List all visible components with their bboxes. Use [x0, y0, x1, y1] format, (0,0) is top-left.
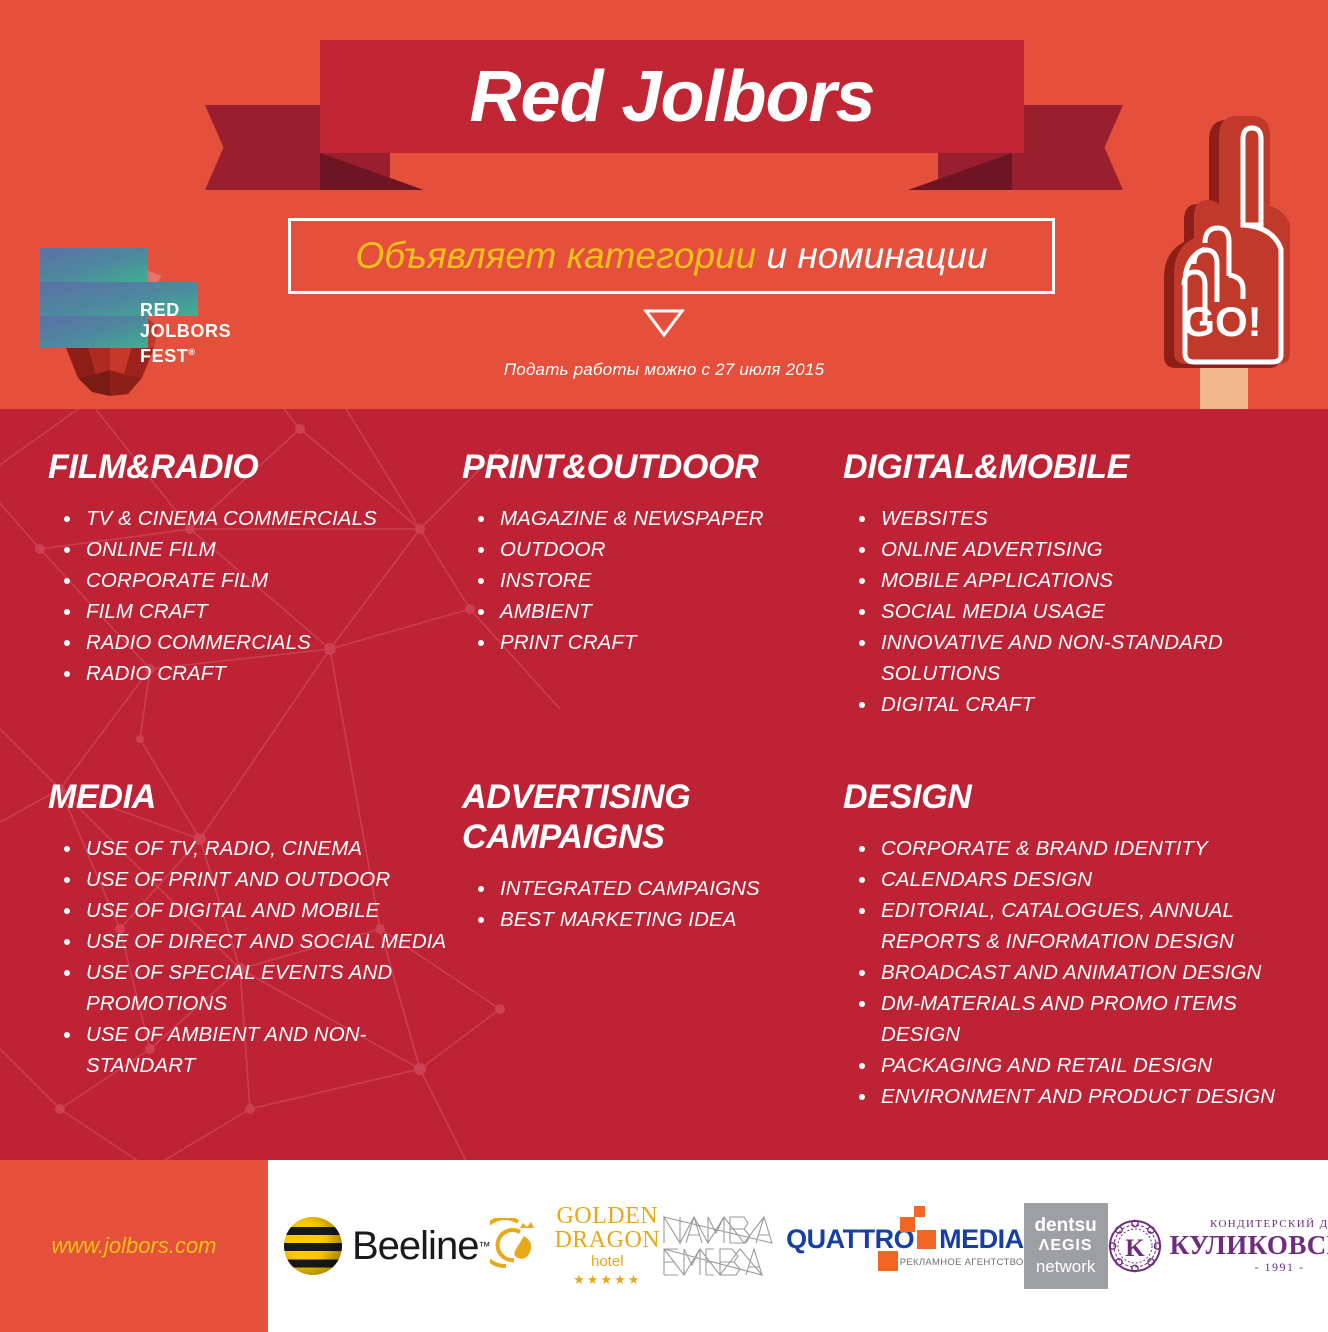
- list-item: MAGAZINE & NEWSPAPER: [462, 503, 842, 534]
- list-item: CORPORATE & BRAND IDENTITY: [843, 833, 1313, 864]
- category-title: MEDIA: [48, 777, 468, 817]
- golden-dragon-crown-icon: [490, 1218, 546, 1274]
- category-digital-mobile: DIGITAL&MOBILE WEBSITES ONLINE ADVERTISI…: [843, 447, 1263, 720]
- logo-registered-mark: ®: [188, 347, 195, 357]
- poster-header: Red Jolbors: [0, 0, 1328, 409]
- list-item: INSTORE: [462, 565, 842, 596]
- sponsor-word-2: MEDIA: [939, 1224, 1024, 1255]
- category-film-radio: FILM&RADIO TV & CINEMA COMMERCIALS ONLIN…: [48, 447, 448, 689]
- list-item: OUTDOOR: [462, 534, 842, 565]
- category-title: PRINT&OUTDOOR: [462, 447, 842, 487]
- quattro-square-mid-icon: [900, 1217, 915, 1232]
- sponsor-dentsu-aegis[interactable]: dentsu ΛEGIS network: [1024, 1203, 1108, 1289]
- list-item: PRINT CRAFT: [462, 627, 842, 658]
- sponsor-line-2: КУЛИКОВСКИЙ: [1170, 1230, 1328, 1260]
- list-item: USE OF TV, RADIO, CINEMA: [48, 833, 468, 864]
- list-item: RADIO COMMERCIALS: [48, 627, 448, 658]
- sponsor-line-3: network: [1036, 1256, 1096, 1277]
- namba-media-wireframe-icon: [660, 1213, 786, 1279]
- list-item: USE OF DIGITAL AND MOBILE: [48, 895, 468, 926]
- category-list: INTEGRATED CAMPAIGNS BEST MARKETING IDEA: [462, 873, 832, 935]
- sponsor-logos: Beeline ™ GOLDEN DRAGON hotel ★★★★★: [268, 1160, 1328, 1332]
- category-title: DIGITAL&MOBILE: [843, 447, 1263, 487]
- sponsor-line-3: - 1991 -: [1170, 1260, 1328, 1275]
- list-item: FILM CRAFT: [48, 596, 448, 627]
- list-item: INTEGRATED CAMPAIGNS: [462, 873, 832, 904]
- list-item: ENVIRONMENT AND PRODUCT DESIGN: [843, 1081, 1313, 1112]
- poster-root: Red Jolbors: [0, 0, 1328, 1332]
- sponsor-line-3: hotel: [554, 1252, 660, 1272]
- sponsor-kulikovsky[interactable]: K КОНДИТЕРСКИЙ ДОМ КУЛИКОВСКИЙ - 1991 -: [1108, 1218, 1328, 1275]
- category-print-outdoor: PRINT&OUTDOOR MAGAZINE & NEWSPAPER OUTDO…: [462, 447, 842, 658]
- list-item: ONLINE FILM: [48, 534, 448, 565]
- kulikovsky-ornate-monogram-icon: K: [1108, 1219, 1162, 1273]
- list-item: USE OF SPECIAL EVENTS AND PROMOTIONS: [48, 957, 468, 1019]
- sponsor-line-2: ΛEGIS: [1039, 1236, 1093, 1256]
- ribbon-banner: Red Jolbors: [320, 40, 1024, 153]
- logo-line-1: RED: [140, 300, 231, 321]
- svg-text:K: K: [1125, 1235, 1145, 1262]
- sponsor-line-1: GOLDEN: [554, 1204, 660, 1228]
- sponsor-line-1: dentsu: [1034, 1215, 1096, 1236]
- list-item: ONLINE ADVERTISING: [843, 534, 1263, 565]
- categories-section: FILM&RADIO TV & CINEMA COMMERCIALS ONLIN…: [0, 409, 1328, 1160]
- subtitle-white: и номинации: [756, 235, 987, 276]
- category-title: ADVERTISING CAMPAIGNS: [462, 777, 832, 857]
- beeline-striped-sphere-icon: [284, 1217, 342, 1275]
- sponsor-line-2: DRAGON: [554, 1228, 660, 1252]
- list-item: INNOVATIVE AND NON-STANDARD SOLUTIONS: [843, 627, 1263, 689]
- category-media: MEDIA USE OF TV, RADIO, CINEMA USE OF PR…: [48, 777, 468, 1081]
- triangle-down-icon: [643, 308, 685, 338]
- category-list: TV & CINEMA COMMERCIALS ONLINE FILM CORP…: [48, 503, 448, 689]
- subtitle-box: Объявляет категории и номинации: [288, 218, 1055, 294]
- sponsor-tagline: РЕКЛАМНОЕ АГЕНТСТВО: [786, 1257, 1023, 1268]
- pointing-foam-finger-icon: GO!: [1142, 112, 1328, 409]
- list-item: CALENDARS DESIGN: [843, 864, 1313, 895]
- category-title: DESIGN: [843, 777, 1313, 817]
- sponsor-golden-dragon[interactable]: GOLDEN DRAGON hotel ★★★★★: [490, 1204, 660, 1288]
- list-item: BROADCAST AND ANIMATION DESIGN: [843, 957, 1313, 988]
- list-item: AMBIENT: [462, 596, 842, 627]
- list-item: MOBILE APPLICATIONS: [843, 565, 1263, 596]
- sponsor-beeline[interactable]: Beeline ™: [284, 1217, 490, 1275]
- category-list: CORPORATE & BRAND IDENTITY CALENDARS DES…: [843, 833, 1313, 1112]
- deadline-text: Подать работы можно с 27 июля 2015: [0, 360, 1328, 380]
- sponsor-line-1: КОНДИТЕРСКИЙ ДОМ: [1170, 1218, 1328, 1230]
- website-panel: www.jolbors.com: [0, 1160, 268, 1332]
- sponsor-name: Beeline: [352, 1224, 478, 1269]
- list-item: USE OF DIRECT AND SOCIAL MEDIA: [48, 926, 468, 957]
- sponsor-namba-media[interactable]: [660, 1213, 786, 1279]
- trademark-mark: ™: [478, 1239, 490, 1253]
- category-list: USE OF TV, RADIO, CINEMA USE OF PRINT AN…: [48, 833, 468, 1081]
- list-item: USE OF PRINT AND OUTDOOR: [48, 864, 468, 895]
- categories-grid: FILM&RADIO TV & CINEMA COMMERCIALS ONLIN…: [0, 409, 1328, 1160]
- category-title: FILM&RADIO: [48, 447, 448, 487]
- list-item: DIGITAL CRAFT: [843, 689, 1263, 720]
- festival-logo-text: RED JOLBORS FEST®: [140, 300, 231, 367]
- list-item: SOCIAL MEDIA USAGE: [843, 596, 1263, 627]
- category-list: MAGAZINE & NEWSPAPER OUTDOOR INSTORE AMB…: [462, 503, 842, 658]
- title-ribbon: Red Jolbors: [0, 0, 1328, 200]
- list-item: BEST MARKETING IDEA: [462, 904, 832, 935]
- page-title: Red Jolbors: [469, 61, 874, 133]
- list-item: RADIO CRAFT: [48, 658, 448, 689]
- subtitle-text: Объявляет категории и номинации: [356, 235, 988, 277]
- quattro-square-small-icon: [914, 1206, 925, 1217]
- sponsor-quattro-media[interactable]: QUATTRO MEDIA РЕКЛАМНОЕ АГЕНТСТВО: [786, 1224, 1023, 1268]
- list-item: PACKAGING AND RETAIL DESIGN: [843, 1050, 1313, 1081]
- website-url[interactable]: www.jolbors.com: [51, 1233, 216, 1259]
- category-advertising-campaigns: ADVERTISING CAMPAIGNS INTEGRATED CAMPAIG…: [462, 777, 832, 935]
- glove-label: GO!: [1182, 298, 1261, 345]
- list-item: DM-MATERIALS AND PROMO ITEMS DESIGN: [843, 988, 1313, 1050]
- list-item: USE OF AMBIENT AND NON-STANDART: [48, 1019, 468, 1081]
- subtitle-gold: Объявляет категории: [356, 235, 757, 276]
- list-item: EDITORIAL, CATALOGUES, ANNUAL REPORTS & …: [843, 895, 1313, 957]
- quattro-square-low-icon: [878, 1251, 898, 1271]
- quattro-orange-squares-icon: [917, 1230, 936, 1249]
- poster-footer: www.jolbors.com Beeline ™ GOLDEN DRA: [0, 1160, 1328, 1332]
- logo-line-2: JOLBORS: [140, 321, 231, 342]
- sponsor-stars: ★★★★★: [554, 1272, 660, 1288]
- list-item: CORPORATE FILM: [48, 565, 448, 596]
- list-item: TV & CINEMA COMMERCIALS: [48, 503, 448, 534]
- category-design: DESIGN CORPORATE & BRAND IDENTITY CALEND…: [843, 777, 1313, 1112]
- category-list: WEBSITES ONLINE ADVERTISING MOBILE APPLI…: [843, 503, 1263, 720]
- list-item: WEBSITES: [843, 503, 1263, 534]
